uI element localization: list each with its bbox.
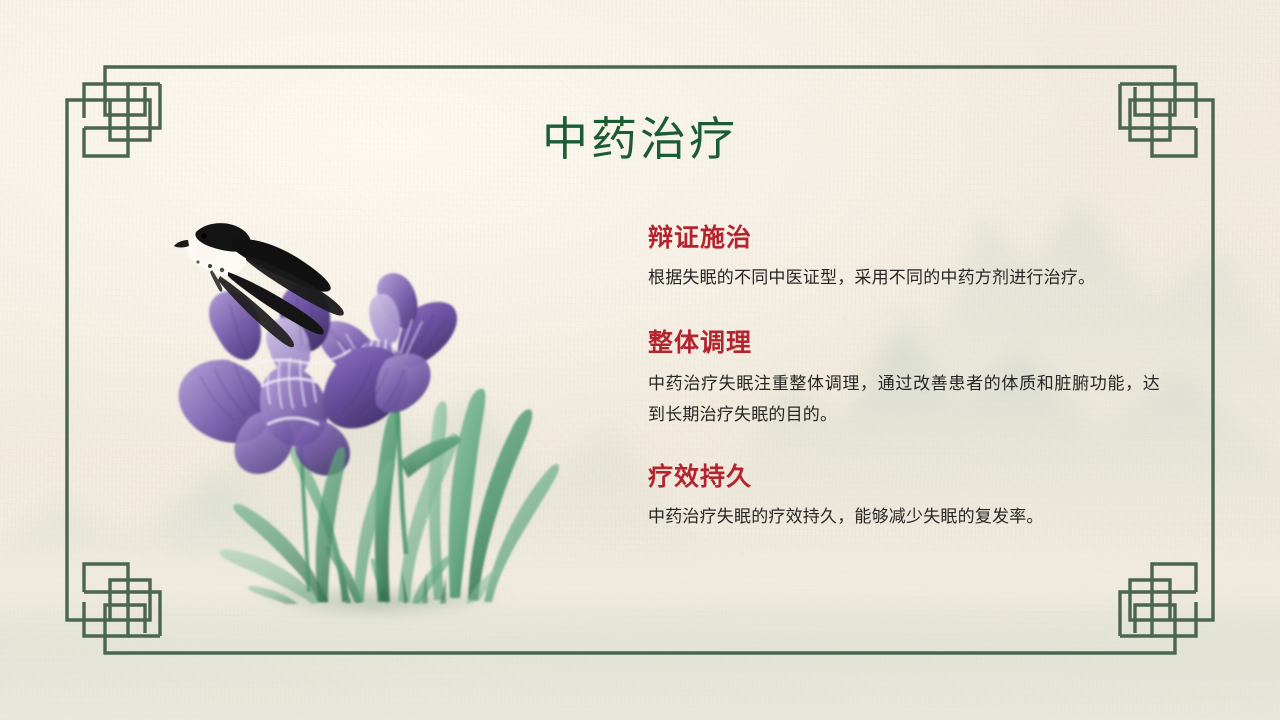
section-body: 中药治疗失眠的疗效持久，能够减少失眠的复发率。 (648, 502, 1160, 533)
section-liaoxiao-chijiu: 疗效持久 中药治疗失眠的疗效持久，能够减少失眠的复发率。 (648, 461, 1160, 533)
slide-canvas: 中药治疗 辩证施治 根据失眠的不同中医证型，采用不同的中药方剂进行治疗。 整体调… (0, 0, 1280, 720)
fret-corner-bottom-left (67, 550, 170, 653)
section-heading: 疗效持久 (648, 461, 1160, 492)
section-body: 中药治疗失眠注重整体调理，通过改善患者的体质和脏腑功能，达到长期治疗失眠的目的。 (648, 369, 1160, 431)
section-zhengti-tiaoli: 整体调理 中药治疗失眠注重整体调理，通过改善患者的体质和脏腑功能，达到长期治疗失… (648, 327, 1160, 430)
page-title: 中药治疗 (0, 112, 1280, 167)
section-bianzheng-shizhi: 辩证施治 根据失眠的不同中医证型，采用不同的中药方剂进行治疗。 (648, 222, 1160, 294)
section-heading: 整体调理 (648, 327, 1160, 358)
section-heading: 辩证施治 (648, 222, 1160, 253)
fret-corner-bottom-right (1110, 550, 1213, 653)
content-column: 辩证施治 根据失眠的不同中医证型，采用不同的中药方剂进行治疗。 整体调理 中药治… (648, 222, 1160, 533)
section-body: 根据失眠的不同中医证型，采用不同的中药方剂进行治疗。 (648, 263, 1160, 294)
